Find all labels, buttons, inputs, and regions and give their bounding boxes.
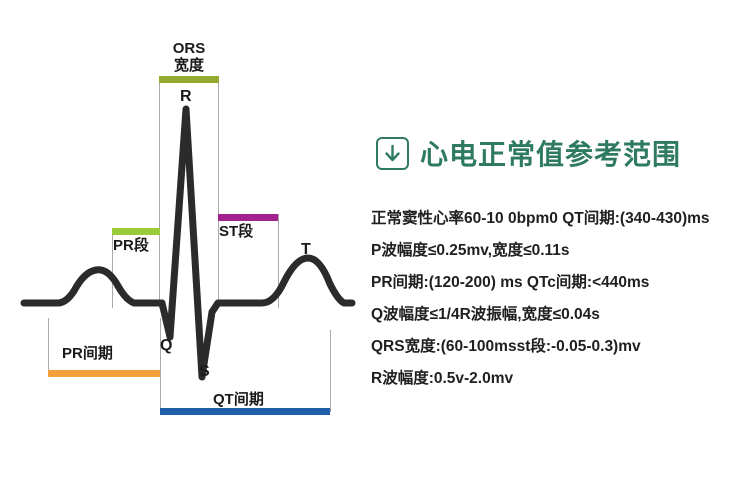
reference-values-panel: 心电正常值参考范围 正常窦性心率60-10 0bpm0 QT间期:(340-43…: [368, 0, 750, 500]
qrs-width-bar: [159, 76, 219, 83]
reference-line: P波幅度≤0.25mv,宽度≤0.11s: [371, 235, 750, 267]
pr-interval-label: PR间期: [62, 342, 113, 363]
reference-line: Q波幅度≤1/4R波振幅,宽度≤0.04s: [371, 299, 750, 331]
reference-line: R波幅度:0.5v-2.0mv: [371, 363, 750, 395]
qt-interval-bar: [160, 408, 330, 415]
qrs-width-label-line2: 宽度: [159, 57, 219, 74]
st-segment-label: ST段: [219, 220, 253, 241]
ecg-diagram-panel: ORS 宽度 PR段 ST段 PR间期 QT间期 R Q S T: [0, 0, 360, 500]
wave-letter-s: S: [199, 363, 210, 381]
qrs-width-label: ORS 宽度: [159, 40, 219, 74]
reference-line: PR间期:(120-200) ms QTc间期:<440ms: [371, 267, 750, 299]
pr-interval-bar: [48, 370, 160, 377]
pr-segment-label: PR段: [113, 234, 149, 255]
wave-letter-r: R: [180, 88, 192, 106]
reference-line: 正常窦性心率60-10 0bpm0 QT间期:(340-430)ms: [371, 203, 750, 235]
panel-title-row: 心电正常值参考范围: [376, 133, 681, 173]
qrs-width-label-line1: ORS: [159, 40, 219, 57]
reference-line: QRS宽度:(60-100msst段:-0.05-0.3)mv: [371, 331, 750, 363]
wave-letter-t: T: [301, 241, 311, 259]
qt-interval-label: QT间期: [213, 388, 264, 409]
down-arrow-icon: [376, 137, 409, 170]
page-title: 心电正常值参考范围: [420, 133, 681, 173]
wave-letter-q: Q: [160, 337, 172, 355]
ecg-reference-infographic: ORS 宽度 PR段 ST段 PR间期 QT间期 R Q S T 心电正常值参考…: [0, 0, 750, 500]
reference-values-list: 正常窦性心率60-10 0bpm0 QT间期:(340-430)ms P波幅度≤…: [371, 203, 750, 395]
